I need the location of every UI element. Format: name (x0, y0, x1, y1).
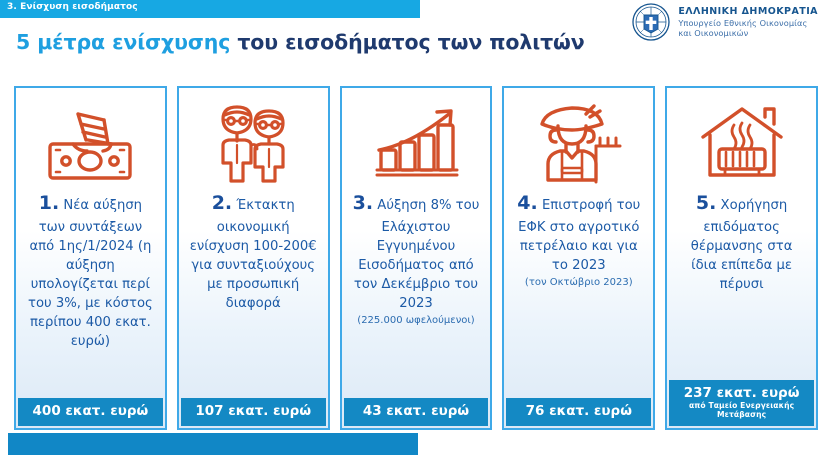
slide: 3. Ενίσχυση εισοδήματος ΕΛΛΗΝΙΚΗ ΔΗΜΟΚΡΑ… (0, 0, 830, 461)
measure-card[interactable]: 5. Χορήγηση επιδόματος θέρμανσης στα ίδι… (665, 86, 818, 430)
measure-card-badge-amount: 43 εκατ. ευρώ (363, 403, 469, 419)
measure-card-badge-source: από Ταμείο Ενεργειακής Μετάβασης (671, 402, 812, 419)
ministry-subtitle-line1: Υπουργείο Εθνικής Οικονομίας (678, 18, 818, 28)
measure-card-body: 2. Έκτακτη οικονομική ενίσχυση 100-200€ … (179, 88, 328, 394)
house-radiator-icon (695, 98, 789, 190)
page-title-highlight: 5 μέτρα ενίσχυσης (16, 30, 230, 54)
ministry-logo-text: ΕΛΛΗΝΙΚΗ ΔΗΜΟΚΡΑΤΙΑ Υπουργείο Εθνικής Οι… (678, 6, 818, 38)
measure-card-badge-amount: 76 εκατ. ευρώ (526, 403, 632, 419)
measure-card-body: 5. Χορήγηση επιδόματος θέρμανσης στα ίδι… (667, 88, 816, 376)
measure-card-text: 1. Νέα αύξηση των συντάξεων από 1ης/1/20… (22, 190, 159, 352)
section-tab: 3. Ενίσχυση εισοδήματος (0, 0, 420, 18)
measure-card-body: 1. Νέα αύξηση των συντάξεων από 1ης/1/20… (16, 88, 165, 394)
page-title-rest: του εισοδήματος των πολιτών (230, 30, 584, 54)
measure-card[interactable]: 3. Αύξηση 8% του Ελάχιστου Εγγυημένου Ει… (340, 86, 493, 430)
section-tab-label: 3. Ενίσχυση εισοδήματος (0, 2, 138, 12)
measure-card-badge: 43 εκατ. ευρώ (344, 398, 489, 426)
measure-card-text: 5. Χορήγηση επιδόματος θέρμανσης στα ίδι… (673, 190, 810, 294)
measure-card[interactable]: 1. Νέα αύξηση των συντάξεων από 1ης/1/20… (14, 86, 167, 430)
measure-card-text: 2. Έκτακτη οικονομική ενίσχυση 100-200€ … (185, 190, 322, 313)
measure-card-badge: 237 εκατ. ευρώ από Ταμείο Ενεργειακής Με… (669, 380, 814, 426)
page-title: 5 μέτρα ενίσχυσης του εισοδήματος των πο… (16, 30, 585, 54)
measure-card[interactable]: 4. Επιστροφή του ΕΦΚ στο αγροτικό πετρέλ… (502, 86, 655, 430)
measure-card-badge: 400 εκατ. ευρώ (18, 398, 163, 426)
ministry-title: ΕΛΛΗΝΙΚΗ ΔΗΜΟΚΡΑΤΙΑ (678, 6, 818, 18)
farmer-icon (532, 98, 626, 190)
measure-card-number: 5. (696, 192, 716, 214)
measure-card-number: 2. (212, 192, 232, 214)
measure-card-note: (τον Οκτώβριο 2023) (514, 276, 643, 291)
ministry-logo: ΕΛΛΗΝΙΚΗ ΔΗΜΟΚΡΑΤΙΑ Υπουργείο Εθνικής Οι… (632, 3, 818, 41)
measure-card-badge: 107 εκατ. ευρώ (181, 398, 326, 426)
greek-coat-of-arms-icon (632, 3, 670, 41)
measure-card-badge-amount: 237 εκατ. ευρώ (684, 385, 800, 401)
growth-bar-chart-icon (369, 98, 463, 190)
measure-card-body: 3. Αύξηση 8% του Ελάχιστου Εγγυημένου Ει… (342, 88, 491, 394)
measure-card-badge: 76 εκατ. ευρώ (506, 398, 651, 426)
bottom-accent-bar (8, 433, 418, 455)
measure-card-badge-amount: 400 εκατ. ευρώ (33, 403, 149, 419)
measure-cards: 1. Νέα αύξηση των συντάξεων από 1ης/1/20… (14, 86, 818, 430)
measure-card-badge-amount: 107 εκατ. ευρώ (195, 403, 311, 419)
measure-card-description: Νέα αύξηση των συντάξεων από 1ης/1/2024 … (28, 198, 153, 349)
measure-card-text: 3. Αύξηση 8% του Ελάχιστου Εγγυημένου Ει… (348, 190, 485, 329)
measure-card-number: 4. (517, 192, 537, 214)
measure-card-number: 1. (39, 192, 59, 214)
elderly-couple-icon (207, 98, 299, 190)
measure-card[interactable]: 2. Έκτακτη οικονομική ενίσχυση 100-200€ … (177, 86, 330, 430)
measure-card-description: Αύξηση 8% του Ελάχιστου Εγγυημένου Εισοδ… (354, 198, 479, 311)
measure-card-description: Έκτακτη οικονομική ενίσχυση 100-200€ για… (190, 198, 317, 311)
banknote-rocking-chair-icon (42, 98, 138, 190)
measure-card-text: 4. Επιστροφή του ΕΦΚ στο αγροτικό πετρέλ… (510, 190, 647, 290)
measure-card-number: 3. (353, 192, 373, 214)
measure-card-body: 4. Επιστροφή του ΕΦΚ στο αγροτικό πετρέλ… (504, 88, 653, 394)
ministry-subtitle-line2: και Οικονομικών (678, 28, 818, 38)
measure-card-note: (225.000 ωφελούμενοι) (352, 314, 481, 329)
